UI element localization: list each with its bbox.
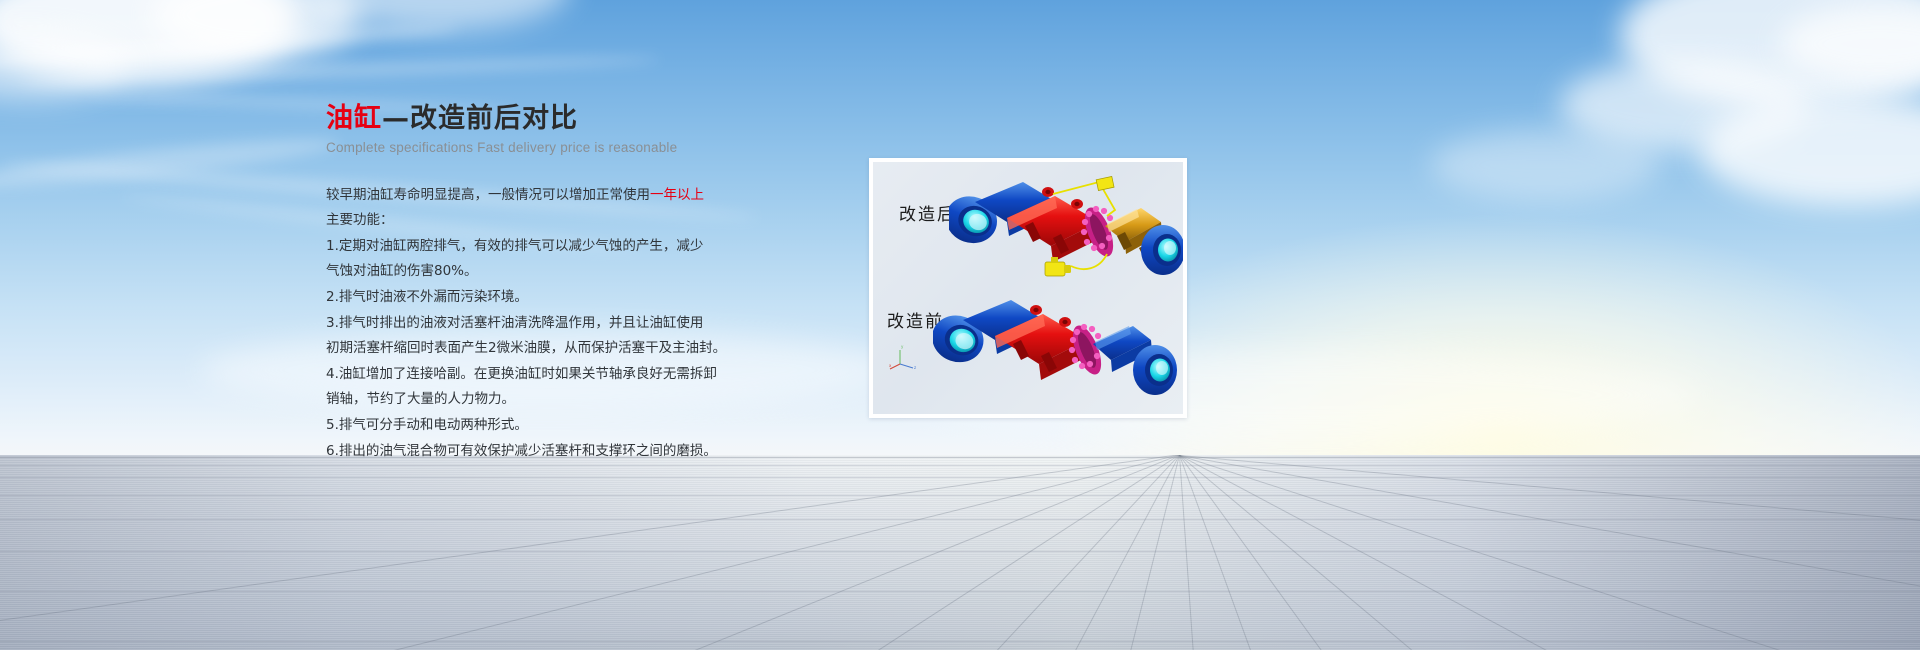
feature-text: 初期活塞杆缩回时表面产生2微米油膜，从而保护活塞干及主油封。 [326, 340, 726, 356]
feature-text: 2.排气时油液不外漏而污染环境。 [326, 289, 528, 305]
feature-text: 1.定期对油缸两腔排气，有效的排气可以减少气蚀的产生，减少 [326, 238, 703, 254]
feature-text: 4.油缸增加了连接哈副。在更换油缸时如果关节轴承良好无需拆卸 [326, 366, 717, 382]
page-subtitle: Complete specifications Fast delivery pr… [326, 140, 966, 155]
feature-text: 气蚀对油缸的伤害80%。 [326, 263, 478, 279]
axis-triad-icon: y x z [889, 340, 923, 370]
svg-text:x: x [889, 363, 892, 368]
feature-text: 主要功能： [326, 212, 394, 228]
svg-text:z: z [914, 365, 916, 370]
product-comparison-panel: 改造后 改造前 y x z [869, 158, 1187, 418]
feature-text: 6.排出的油气混合物可有效保护减少活塞杆和支撑环之间的磨损。 [326, 443, 717, 459]
page-title: 油缸—改造前后对比 [326, 104, 966, 134]
cloud [1430, 130, 1660, 200]
feature-text: 销轴，节约了大量的人力物力。 [326, 391, 515, 407]
page-title-rest: —改造前后对比 [382, 103, 578, 134]
feature-text: 较早期油缸寿命明显提高，一般情况可以增加正常使用 [326, 187, 650, 203]
page-title-highlight: 油缸 [326, 103, 382, 134]
cylinder-assembly-before [933, 288, 1187, 418]
promo-banner: 油缸—改造前后对比 Complete specifications Fast d… [0, 0, 1920, 650]
svg-text:y: y [901, 344, 904, 349]
feature-text: 5.排气可分手动和电动两种形式。 [326, 417, 528, 433]
cylinder-assembly-after [949, 174, 1185, 302]
feature-line: 6.排出的油气混合物可有效保护减少活塞杆和支撑环之间的磨损。 [326, 439, 966, 465]
ground-pavement [0, 455, 1920, 650]
feature-text: 3.排气时排出的油液对活塞杆油清洗降温作用，并且让油缸使用 [326, 315, 703, 331]
label-after-modification: 改造后 [899, 200, 956, 225]
feature-text-highlight: 一年以上 [650, 187, 704, 203]
